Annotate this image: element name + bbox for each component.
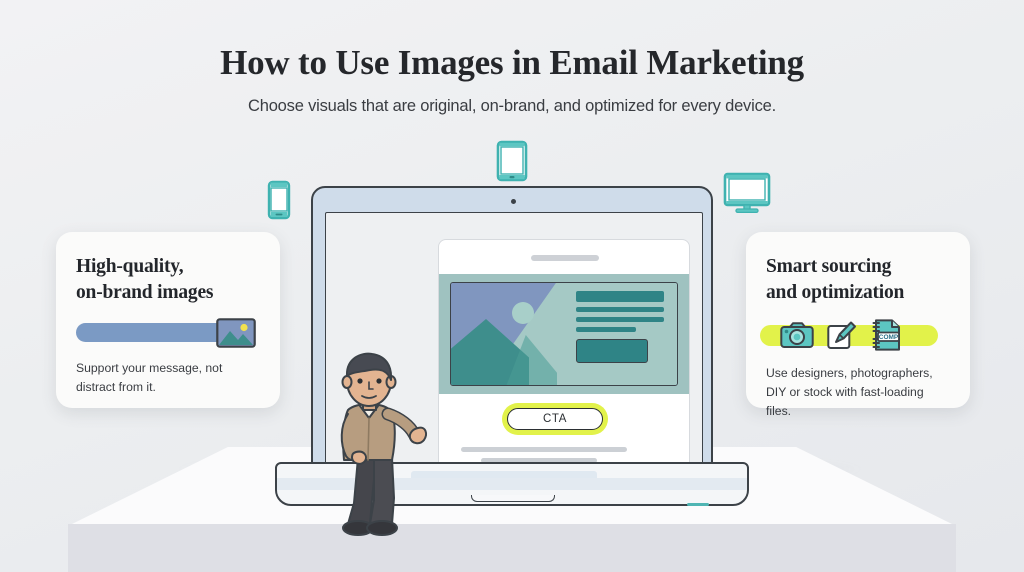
page-title: How to Use Images in Email Marketing	[0, 44, 1024, 83]
sourcing-icon-group: COMP	[780, 319, 904, 356]
card-right-highlight-row: COMP	[766, 319, 950, 351]
camera-icon	[780, 321, 814, 354]
hero-heading-bar	[576, 291, 664, 302]
email-header-line	[531, 255, 599, 261]
hero-text-line	[576, 317, 664, 322]
infographic-canvas: How to Use Images in Email Marketing Cho…	[0, 0, 1024, 572]
file-icon-label: COMP	[879, 334, 899, 341]
card-smart-sourcing: Smart sourcing and optimization	[746, 232, 970, 408]
footer-text-line	[461, 447, 627, 452]
email-header	[439, 240, 689, 274]
cta-button[interactable]: CTA	[507, 408, 603, 430]
platform-front-face	[68, 524, 956, 572]
highlight-bar	[76, 323, 236, 342]
compressed-file-icon: COMP	[870, 319, 904, 356]
email-preview: CTA	[438, 239, 690, 469]
hero-cta-button[interactable]	[576, 339, 648, 363]
laptop-base-accent	[687, 503, 709, 506]
email-footer: CTA	[439, 394, 689, 469]
header: How to Use Images in Email Marketing Cho…	[0, 0, 1024, 116]
hero-copy-block	[576, 291, 668, 363]
laptop-trackpad-notch	[471, 495, 555, 502]
page-subtitle: Choose visuals that are original, on-bra…	[0, 97, 1024, 116]
card-left-heading: High-quality, on-brand images	[76, 254, 260, 305]
card-high-quality: High-quality, on-brand images Support yo…	[56, 232, 280, 408]
hero-text-line	[576, 307, 664, 312]
hero-image	[450, 282, 678, 386]
card-right-body: Use designers, photographers, DIY or sto…	[766, 364, 950, 420]
tablet-icon	[496, 140, 528, 182]
cta-button-wrapper: CTA	[507, 408, 603, 430]
seated-person-illustration	[318, 348, 430, 544]
card-right-heading: Smart sourcing and optimization	[766, 254, 950, 305]
email-hero-section	[439, 274, 690, 394]
picture-icon	[216, 318, 256, 353]
sun-shape	[512, 302, 534, 324]
hero-text-line	[576, 327, 636, 332]
card-left-highlight-row	[76, 321, 260, 345]
pencil-edit-icon	[827, 320, 857, 355]
webcam-dot	[511, 199, 516, 204]
card-left-body: Support your message, not distract from …	[76, 359, 260, 396]
